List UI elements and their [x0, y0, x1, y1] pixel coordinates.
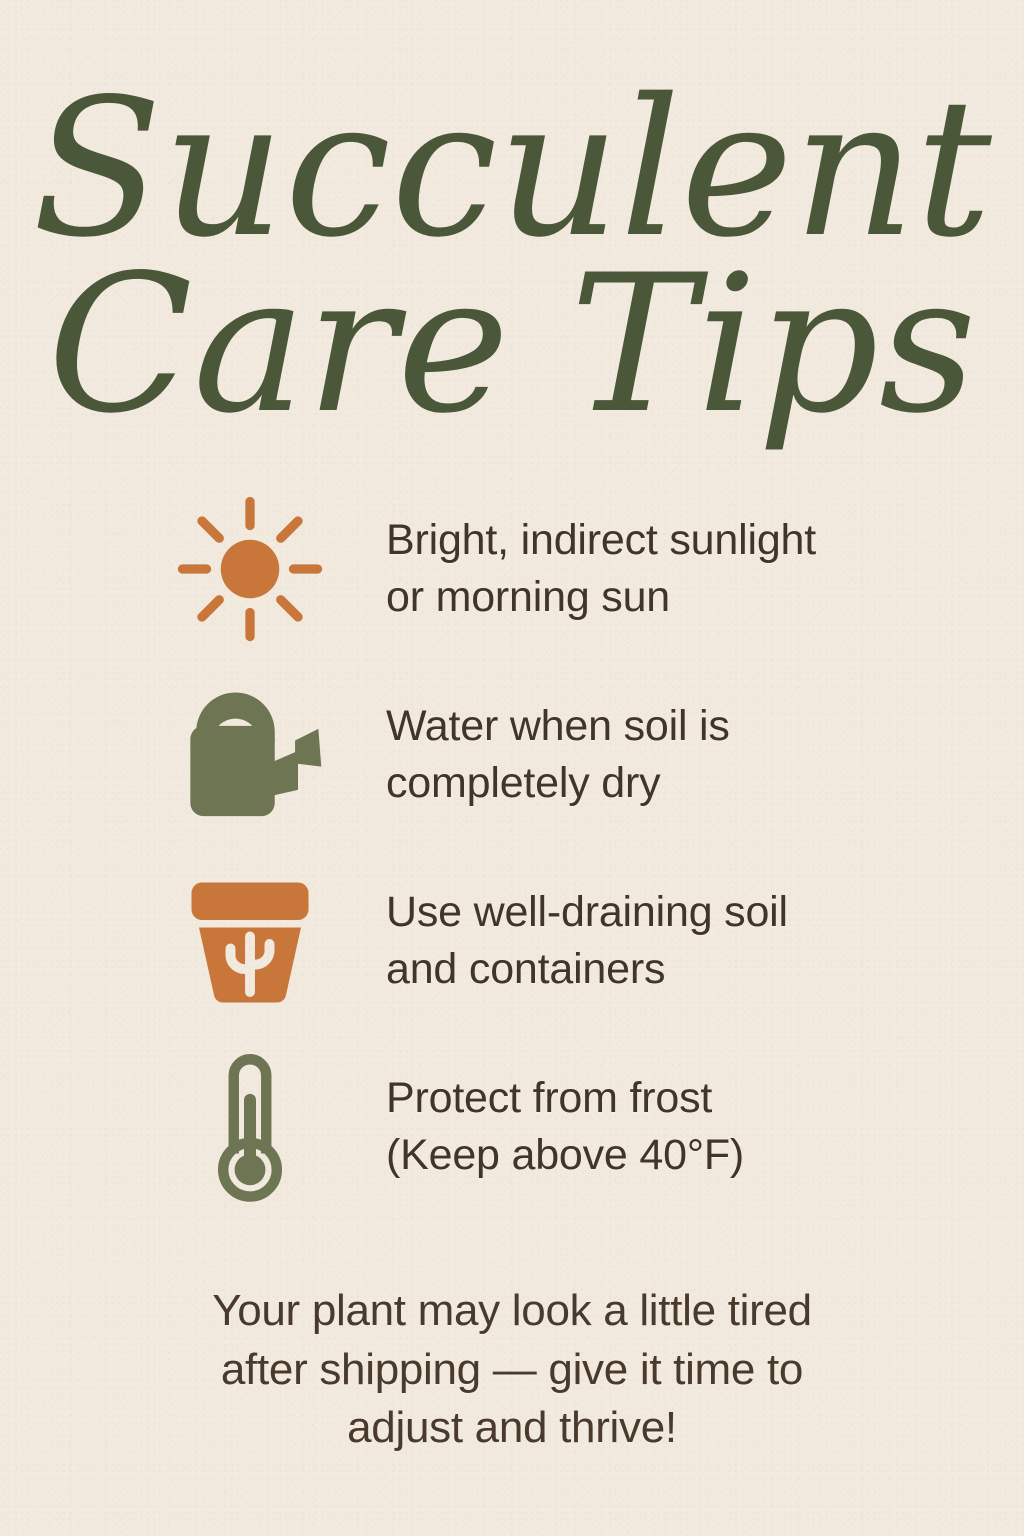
- plant-pot-icon: [150, 866, 350, 1016]
- title-line-2: Care Tips: [48, 234, 977, 455]
- tip-row-soil: Use well-draining soil and containers: [0, 848, 1024, 1034]
- footer-line-3: adjust and thrive!: [0, 1399, 1024, 1458]
- tip-line-2: (Keep above 40°F): [386, 1127, 1024, 1184]
- footer-line-2: after shipping — give it time to: [0, 1341, 1024, 1400]
- tip-text-frost: Protect from frost (Keep above 40°F): [350, 1070, 1024, 1184]
- page-title: Succulent Care Tips: [0, 62, 1024, 462]
- care-tips-list: Bright, indirect sunlight or morning sun: [0, 476, 1024, 1220]
- tip-row-sunlight: Bright, indirect sunlight or morning sun: [0, 476, 1024, 662]
- footer-line-1: Your plant may look a little tired: [0, 1282, 1024, 1341]
- tip-text-watering: Water when soil is completely dry: [350, 698, 1024, 812]
- tip-text-soil: Use well-draining soil and containers: [350, 884, 1024, 998]
- tip-line-2: or morning sun: [386, 569, 1024, 626]
- tip-line-1: Bright, indirect sunlight: [386, 512, 1024, 569]
- tip-row-watering: Water when soil is completely dry: [0, 662, 1024, 848]
- tip-line-1: Use well-draining soil: [386, 884, 1024, 941]
- tip-line-2: completely dry: [386, 755, 1024, 812]
- tip-row-frost: Protect from frost (Keep above 40°F): [0, 1034, 1024, 1220]
- watering-can-icon: [150, 680, 350, 830]
- sun-icon: [150, 494, 350, 644]
- thermometer-icon: [150, 1045, 350, 1210]
- title-script-art: Succulent Care Tips: [0, 62, 1024, 462]
- footer-note: Your plant may look a little tired after…: [0, 1282, 1024, 1458]
- tip-line-2: and containers: [386, 941, 1024, 998]
- tip-text-sunlight: Bright, indirect sunlight or morning sun: [350, 512, 1024, 626]
- tip-line-1: Protect from frost: [386, 1070, 1024, 1127]
- succulent-care-tips-poster: Succulent Care Tips: [0, 0, 1024, 1536]
- tip-line-1: Water when soil is: [386, 698, 1024, 755]
